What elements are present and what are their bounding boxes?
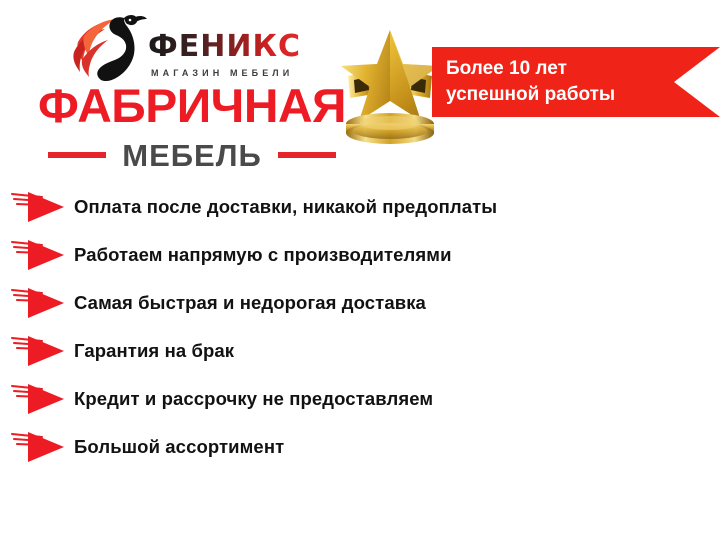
list-item-label: Гарантия на брак (74, 342, 234, 361)
company-logo: ФЕНИКС МАГАЗИН МЕБЕЛИ (72, 12, 287, 84)
dash-right-icon (278, 152, 336, 158)
feature-list: Оплата после доставки, никакой предоплат… (0, 183, 720, 471)
red-arrow-bullet-icon (8, 382, 74, 416)
experience-badge: Более 10 лет успешной работы (432, 47, 720, 117)
experience-badge-line2: успешной работы (446, 82, 686, 108)
red-arrow-bullet-icon (8, 190, 74, 224)
list-item-label: Кредит и рассрочку не предоставляем (74, 390, 433, 409)
list-item: Оплата после доставки, никакой предоплат… (0, 183, 720, 231)
red-arrow-bullet-icon (8, 286, 74, 320)
dash-left-icon (48, 152, 106, 158)
list-item-label: Самая быстрая и недорогая доставка (74, 294, 426, 313)
headline-primary: ФАБРИЧНАЯ (19, 82, 366, 129)
list-item: Гарантия на брак (0, 327, 720, 375)
list-item: Кредит и рассрочку не предоставляем (0, 375, 720, 423)
list-item-label: Оплата после доставки, никакой предоплат… (74, 198, 497, 217)
experience-badge-text: Более 10 лет успешной работы (446, 56, 686, 107)
list-item-label: Большой ассортимент (74, 438, 284, 457)
red-arrow-bullet-icon (8, 430, 74, 464)
avito-watermark: Avito (604, 496, 708, 525)
logo-wordmark: ФЕНИКС (148, 32, 301, 62)
phoenix-bird-icon (72, 12, 150, 82)
list-item: Работаем напрямую с производителями (0, 231, 720, 279)
headline-secondary-row: МЕБЕЛЬ (22, 137, 362, 173)
gold-star-trophy-icon (332, 24, 448, 146)
experience-badge-line1: Более 10 лет (446, 56, 686, 82)
headline-secondary: МЕБЕЛЬ (122, 140, 262, 171)
red-arrow-bullet-icon (8, 238, 74, 272)
avito-dots-icon (604, 497, 634, 525)
list-item: Большой ассортимент (0, 423, 720, 471)
red-arrow-bullet-icon (8, 334, 74, 368)
advertisement-banner: ФЕНИКС МАГАЗИН МЕБЕЛИ ФАБРИЧНАЯ МЕБЕЛЬ (0, 0, 720, 539)
list-item: Самая быстрая и недорогая доставка (0, 279, 720, 327)
avito-watermark-label: Avito (639, 496, 708, 525)
list-item-label: Работаем напрямую с производителями (74, 246, 452, 265)
logo-tagline: МАГАЗИН МЕБЕЛИ (151, 69, 293, 78)
